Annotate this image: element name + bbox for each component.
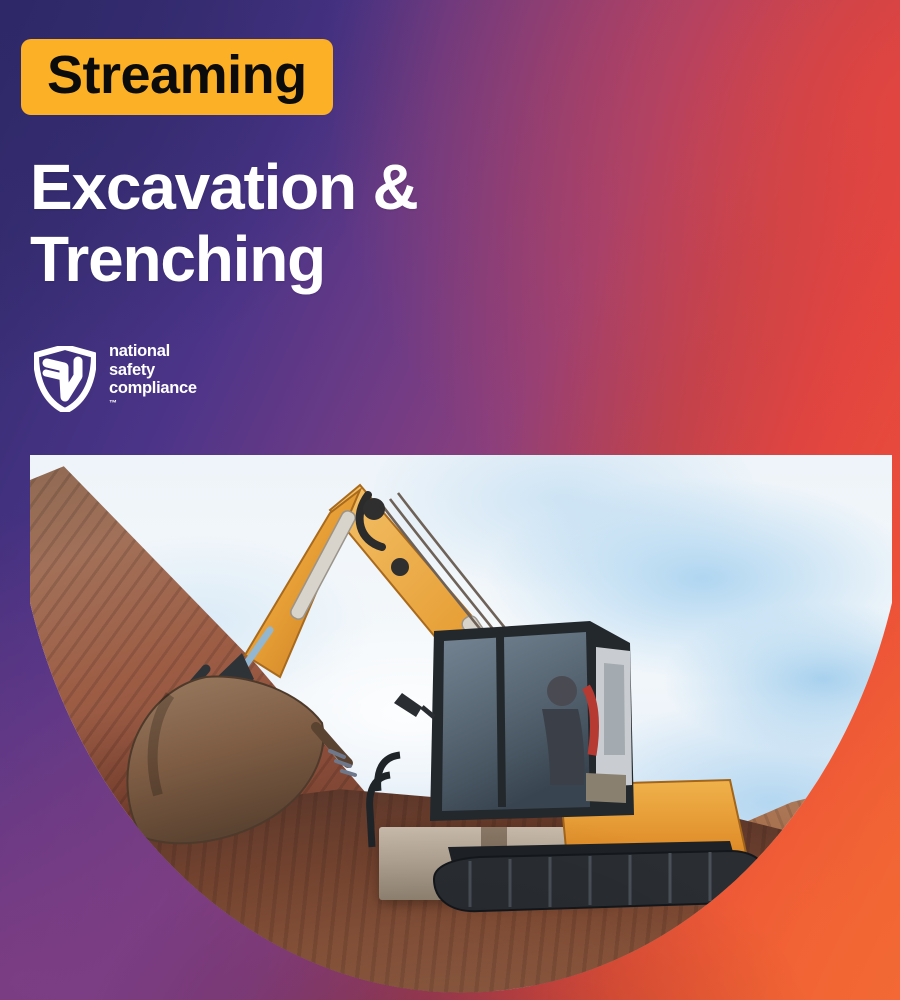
shield-icon: [34, 346, 96, 412]
page-title-line-2: Trenching: [30, 224, 418, 296]
brand-logo-wordmark: national safety compliance™: [109, 342, 197, 417]
excavator-illustration: [30, 455, 892, 1000]
brand-logo: national safety compliance™: [34, 342, 197, 417]
course-promo-card: Streaming Excavation & Trenching nationa…: [0, 0, 900, 1000]
brand-logo-line-3: compliance™: [109, 379, 197, 416]
trademark-symbol: ™: [109, 398, 117, 407]
page-title: Excavation & Trenching: [30, 152, 418, 295]
hero-photo: [30, 455, 892, 1000]
status-badge: Streaming: [21, 39, 333, 115]
brand-logo-line-2: safety: [109, 361, 197, 380]
brand-logo-line-1: national: [109, 342, 197, 361]
page-title-line-1: Excavation &: [30, 151, 418, 223]
